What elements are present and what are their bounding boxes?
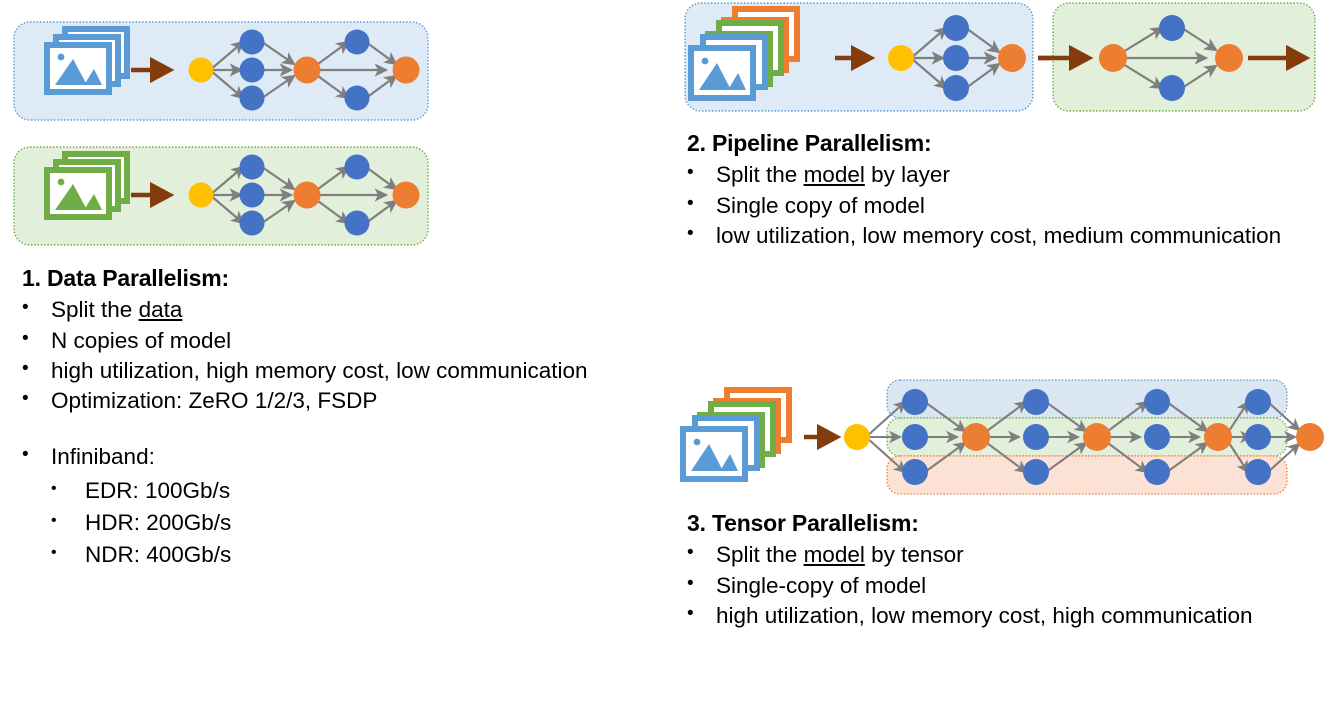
node-shard: [1023, 459, 1049, 485]
tensor-parallelism-section: 3. Tensor Parallelism: • Split the model…: [687, 509, 1317, 631]
node-stage-output: [998, 44, 1026, 72]
right-column: 2. Pipeline Parallelism: • Split the mod…: [665, 0, 1330, 712]
node-hidden: [1159, 75, 1185, 101]
node-input: [189, 58, 214, 83]
tensor-parallelism-svg: [665, 362, 1330, 507]
list-item-text: NDR: 400Gb/s: [85, 542, 231, 567]
list-item: • high utilization, low memory cost, hig…: [687, 601, 1317, 630]
pipeline-parallelism-section: 2. Pipeline Parallelism: • Split the mod…: [687, 129, 1317, 251]
list-item: • Infiniband: • EDR: 100Gb/s • HDR: 200G…: [22, 442, 642, 570]
node-hidden: [240, 86, 265, 111]
replica-panel-green: [14, 147, 428, 245]
node-stage-input: [1099, 44, 1127, 72]
node-merge: [294, 182, 321, 209]
node-shard: [902, 424, 928, 450]
node-output: [393, 57, 420, 84]
list-item-text: Single-copy of model: [716, 573, 926, 598]
tensor-parallelism-heading: 3. Tensor Parallelism:: [687, 509, 1317, 538]
pipeline-bullet-list: • Split the model by layer • Single copy…: [687, 160, 1317, 250]
list-item: • N copies of model: [22, 326, 642, 355]
bullet-glyph: •: [22, 356, 42, 382]
node-hidden: [240, 58, 265, 83]
section-spacer: [22, 416, 642, 442]
list-item: • Split the model by layer: [687, 160, 1317, 189]
node-shard: [1144, 424, 1170, 450]
pipeline-parallelism-svg: [665, 0, 1330, 125]
list-item: • EDR: 100Gb/s: [51, 475, 642, 507]
bullet-glyph: •: [687, 571, 707, 597]
pipeline-parallelism-diagram: [665, 0, 1330, 125]
list-item-text: Optimization: ZeRO 1/2/3, FSDP: [51, 388, 377, 413]
network-sub-list: • EDR: 100Gb/s • HDR: 200Gb/s • NDR: 400…: [51, 475, 642, 571]
node-hidden: [345, 30, 370, 55]
node-shard: [1245, 459, 1271, 485]
node-hidden: [240, 30, 265, 55]
node-hidden: [943, 75, 969, 101]
list-item: • Split the model by tensor: [687, 540, 1317, 569]
pipeline-parallelism-heading: 2. Pipeline Parallelism:: [687, 129, 1317, 158]
list-item-text: low utilization, low memory cost, medium…: [716, 223, 1281, 248]
replica-panel-blue: [14, 22, 428, 120]
list-item: • Single-copy of model: [687, 571, 1317, 600]
node-shard: [1023, 389, 1049, 415]
bullet-glyph: •: [687, 160, 707, 186]
tensor-shard-band-orange: [887, 456, 1287, 494]
list-item: • high utilization, high memory cost, lo…: [22, 356, 642, 385]
bullet-glyph: •: [22, 442, 42, 468]
list-item: • Split the data: [22, 295, 642, 324]
bullet-glyph: •: [22, 386, 42, 412]
node-output: [393, 182, 420, 209]
list-item-text: EDR: 100Gb/s: [85, 478, 230, 503]
node-hidden: [240, 155, 265, 180]
bullet-glyph: •: [22, 326, 42, 352]
list-item-text: HDR: 200Gb/s: [85, 510, 231, 535]
bullet-glyph: •: [51, 539, 71, 567]
node-output: [1296, 423, 1324, 451]
node-hidden: [240, 211, 265, 236]
list-item-text: Split the model by tensor: [716, 542, 964, 567]
list-item: • NDR: 400Gb/s: [51, 539, 642, 571]
image-stack-icon: [47, 154, 127, 217]
node-shard: [1245, 389, 1271, 415]
node-merge: [294, 57, 321, 84]
bullet-glyph: •: [687, 191, 707, 217]
tensor-parallelism-diagram: [665, 362, 1330, 507]
list-item: • HDR: 200Gb/s: [51, 507, 642, 539]
node-hidden: [345, 211, 370, 236]
node-input: [888, 45, 914, 71]
stage-two-green-panel: [1038, 3, 1315, 111]
node-hidden: [1159, 15, 1185, 41]
node-allreduce: [1083, 423, 1111, 451]
network-bullet-list: • Infiniband: • EDR: 100Gb/s • HDR: 200G…: [22, 442, 642, 570]
node-stage-output: [1215, 44, 1243, 72]
data-parallelism-bullet-list: • Split the data • N copies of model • h…: [22, 295, 642, 415]
list-item-text: N copies of model: [51, 328, 231, 353]
bullet-glyph: •: [687, 540, 707, 566]
bullet-glyph: •: [687, 601, 707, 627]
tensor-shard-band-blue: [887, 380, 1287, 418]
node-hidden: [943, 15, 969, 41]
node-hidden: [943, 45, 969, 71]
bullet-glyph: •: [22, 295, 42, 321]
list-item: • low utilization, low memory cost, medi…: [687, 221, 1317, 250]
data-parallelism-diagram: [0, 0, 450, 250]
stage-one-blue-panel: [685, 3, 1033, 111]
bullet-glyph: •: [51, 475, 71, 503]
left-column: 1. Data Parallelism: • Split the data • …: [0, 0, 665, 712]
node-hidden: [345, 86, 370, 111]
list-item-text: Single copy of model: [716, 193, 925, 218]
node-shard: [902, 459, 928, 485]
bullet-glyph: •: [687, 221, 707, 247]
node-allreduce: [962, 423, 990, 451]
image-stack-icon: [47, 29, 127, 92]
node-hidden: [240, 183, 265, 208]
data-parallelism-svg: [0, 0, 450, 250]
node-shard: [1023, 424, 1049, 450]
list-item-text: high utilization, high memory cost, low …: [51, 358, 587, 383]
data-parallelism-section: 1. Data Parallelism: • Split the data • …: [22, 264, 642, 572]
image-stack-multicolor-icon: [683, 390, 789, 479]
list-item-text: high utilization, low memory cost, high …: [716, 603, 1252, 628]
list-item-text: Infiniband:: [51, 444, 155, 469]
list-item-text: Split the model by layer: [716, 162, 950, 187]
node-allreduce: [1204, 423, 1232, 451]
list-item: • Single copy of model: [687, 191, 1317, 220]
node-shard: [1144, 389, 1170, 415]
bullet-glyph: •: [51, 507, 71, 535]
node-hidden: [345, 155, 370, 180]
node-shard: [1144, 459, 1170, 485]
node-input: [189, 183, 214, 208]
data-parallelism-heading: 1. Data Parallelism:: [22, 264, 642, 293]
node-shard: [1245, 424, 1271, 450]
list-item: • Optimization: ZeRO 1/2/3, FSDP: [22, 386, 642, 415]
list-item-text: Split the data: [51, 297, 182, 322]
tensor-bullet-list: • Split the model by tensor • Single-cop…: [687, 540, 1317, 630]
node-shard: [902, 389, 928, 415]
node-input: [844, 424, 870, 450]
